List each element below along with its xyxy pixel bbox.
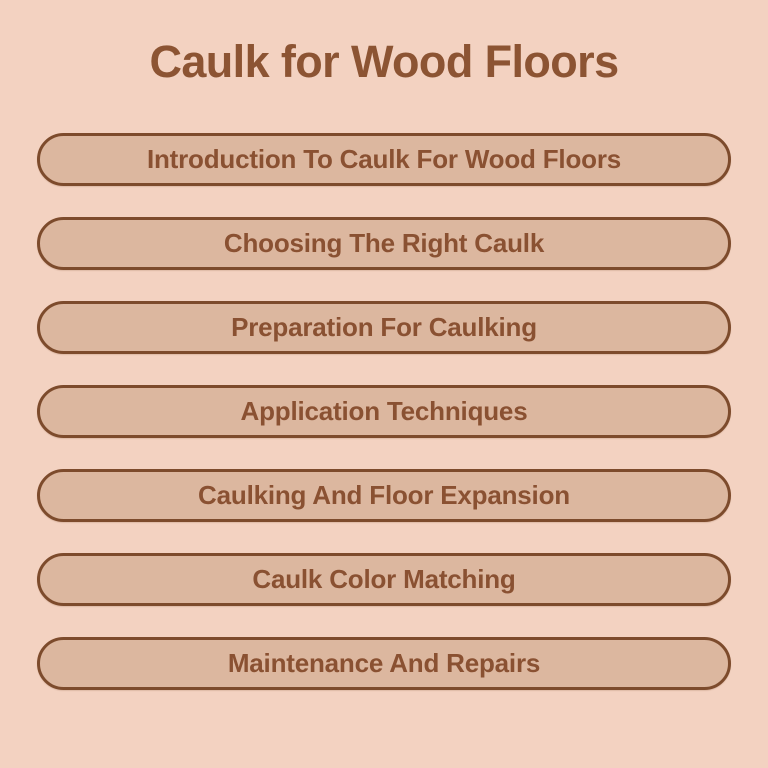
toc-item-label: Introduction To Caulk For Wood Floors bbox=[147, 146, 621, 172]
toc-item-label: Application Techniques bbox=[241, 398, 528, 424]
toc-item-application-techniques[interactable]: Application Techniques bbox=[37, 385, 731, 438]
toc-item-label: Choosing The Right Caulk bbox=[224, 230, 544, 256]
toc-item-caulk-color-matching[interactable]: Caulk Color Matching bbox=[37, 553, 731, 606]
toc-item-label: Caulk Color Matching bbox=[252, 566, 515, 592]
toc-item-label: Maintenance And Repairs bbox=[228, 650, 540, 676]
toc-item-choosing-the-right-caulk[interactable]: Choosing The Right Caulk bbox=[37, 217, 731, 270]
table-of-contents-list: Introduction To Caulk For Wood Floors Ch… bbox=[37, 133, 731, 690]
toc-item-maintenance-and-repairs[interactable]: Maintenance And Repairs bbox=[37, 637, 731, 690]
toc-item-caulking-and-floor-expansion[interactable]: Caulking And Floor Expansion bbox=[37, 469, 731, 522]
toc-item-preparation-for-caulking[interactable]: Preparation For Caulking bbox=[37, 301, 731, 354]
toc-item-label: Caulking And Floor Expansion bbox=[198, 482, 570, 508]
toc-item-label: Preparation For Caulking bbox=[231, 314, 537, 340]
page-title: Caulk for Wood Floors bbox=[0, 36, 768, 88]
toc-item-introduction-to-caulk-for-wood-floors[interactable]: Introduction To Caulk For Wood Floors bbox=[37, 133, 731, 186]
toc-card: Caulk for Wood Floors Introduction To Ca… bbox=[0, 0, 768, 768]
